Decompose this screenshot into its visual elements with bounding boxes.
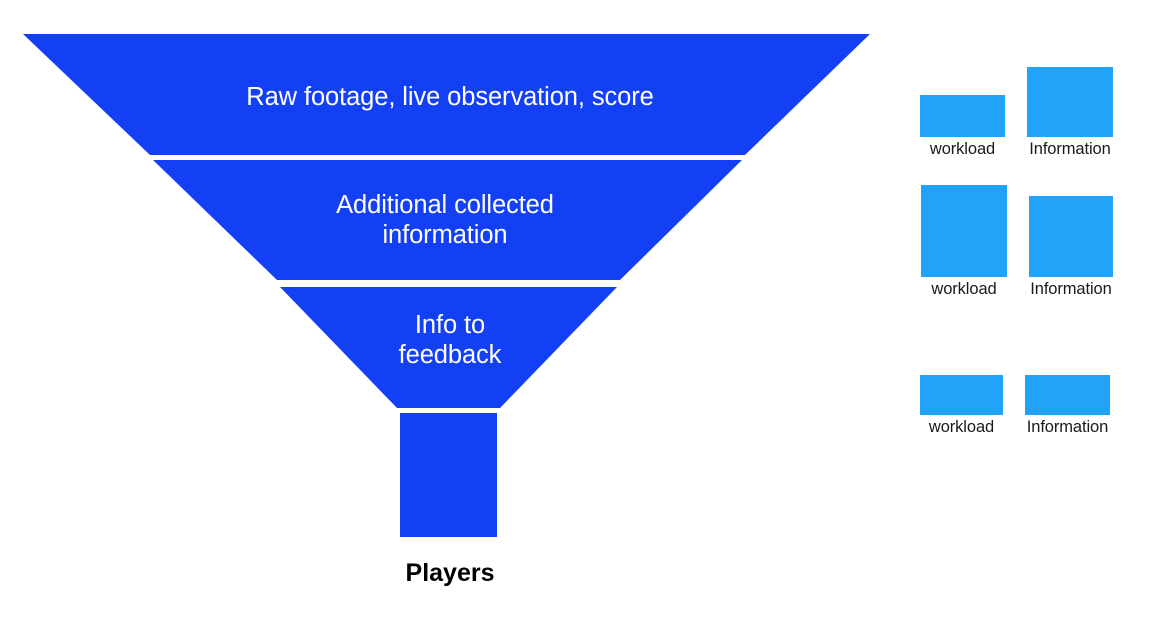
funnel-shape-svg (0, 0, 900, 639)
diagram-canvas: Raw footage, live observation, score Add… (0, 0, 1170, 639)
bar-label-information-3: Information (1027, 417, 1108, 438)
bar-label-workload-1: workload (930, 139, 995, 160)
bar-cell-workload-1[interactable]: workload (920, 60, 1005, 160)
bar-label-workload-2: workload (931, 279, 996, 300)
bar-row-1: workload Information (900, 60, 1170, 160)
funnel-segment-2-shape[interactable] (153, 160, 742, 280)
bar-label-information-1: Information (1029, 139, 1110, 160)
bar-rect-information-2[interactable] (1029, 196, 1113, 277)
bar-cell-workload-3[interactable]: workload (920, 368, 1003, 438)
bar-row-2: workload Information (900, 178, 1170, 300)
funnel-stem-shape[interactable] (400, 413, 497, 537)
funnel-segment-3-shape[interactable] (280, 287, 617, 408)
bar-cell-information-1[interactable]: Information (1027, 60, 1113, 160)
funnel-caption-players: Players (330, 559, 570, 588)
bar-label-information-2: Information (1030, 279, 1111, 300)
bar-label-workload-3: workload (929, 417, 994, 438)
bar-rect-workload-1[interactable] (920, 95, 1005, 137)
funnel-diagram: Raw footage, live observation, score Add… (0, 0, 900, 639)
bar-rect-information-3[interactable] (1025, 375, 1110, 415)
funnel-segment-1-shape[interactable] (23, 34, 870, 155)
bar-cell-information-3[interactable]: Information (1025, 368, 1110, 438)
bar-rect-workload-2[interactable] (921, 185, 1007, 277)
bar-rect-workload-3[interactable] (920, 375, 1003, 415)
bar-row-3: workload Information (900, 368, 1170, 438)
bar-comparison-panel: workload Information workload Informatio… (900, 0, 1170, 639)
bar-rect-information-1[interactable] (1027, 67, 1113, 137)
bar-cell-information-2[interactable]: Information (1029, 178, 1113, 300)
bar-cell-workload-2[interactable]: workload (921, 178, 1007, 300)
